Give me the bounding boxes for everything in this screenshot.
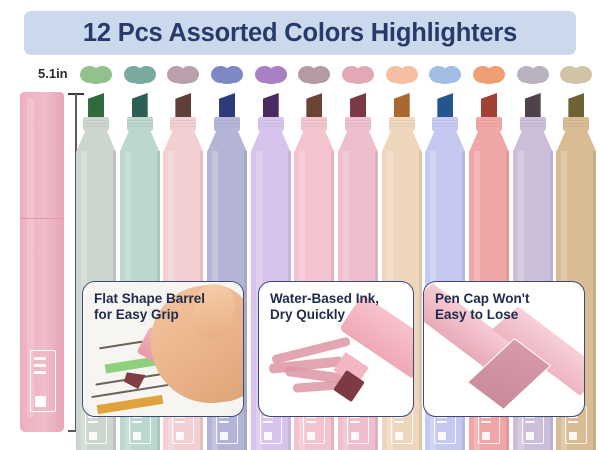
feature-card-pen-cap-secure: Pen Cap Won't Easy to Lose <box>423 281 585 417</box>
pen-collar-8 <box>389 117 415 131</box>
side-pen-brand-label <box>30 350 56 412</box>
card2-title: Water-Based Ink, Dry Quickly <box>270 291 405 322</box>
pen-collar-3 <box>170 117 196 131</box>
color-swatch-4 <box>211 66 243 85</box>
pen-collar-12 <box>563 117 589 131</box>
title-banner: 12 Pcs Assorted Colors Highlighters <box>24 11 576 55</box>
color-swatch-7 <box>342 66 374 85</box>
pen-collar-10 <box>476 117 502 131</box>
pen-shoulder-8 <box>382 130 422 152</box>
pen-collar-5 <box>258 117 284 131</box>
pen-tip-1 <box>85 93 107 119</box>
pen-tip-12 <box>565 93 587 119</box>
side-pen-cap-seam <box>20 218 64 219</box>
color-swatch-1 <box>80 66 112 85</box>
pen-collar-11 <box>520 117 546 131</box>
pen-tip-3 <box>172 93 194 119</box>
pen-shoulder-9 <box>425 130 465 152</box>
pen-collar-9 <box>432 117 458 131</box>
pen-shoulder-6 <box>294 130 334 152</box>
pen-collar-1 <box>83 117 109 131</box>
pen-tip-10 <box>478 93 500 119</box>
pen-shoulder-2 <box>120 130 160 152</box>
card3-title: Pen Cap Won't Easy to Lose <box>435 291 576 322</box>
pen-tip-8 <box>391 93 413 119</box>
color-swatch-10 <box>473 66 505 85</box>
pen-shoulder-10 <box>469 130 509 152</box>
pen-tip-4 <box>216 93 238 119</box>
pen-shoulder-1 <box>76 130 116 152</box>
feature-card-water-based-ink: Water-Based Ink, Dry Quickly <box>258 281 414 417</box>
color-swatch-12 <box>560 66 592 85</box>
card1-title: Flat Shape Barrel for Easy Grip <box>94 291 235 322</box>
pen-shoulder-12 <box>556 130 596 152</box>
pen-tip-5 <box>260 93 282 119</box>
pen-shoulder-11 <box>513 130 553 152</box>
pen-shoulder-4 <box>207 130 247 152</box>
color-swatch-11 <box>517 66 549 85</box>
pen-tip-11 <box>522 93 544 119</box>
pen-collar-2 <box>127 117 153 131</box>
pen-shoulder-3 <box>163 130 203 152</box>
color-swatch-2 <box>124 66 156 85</box>
measurement-value: 5.1in <box>38 66 68 81</box>
pen-collar-7 <box>345 117 371 131</box>
color-swatch-3 <box>167 66 199 85</box>
feature-card-flat-shape-barrel: Flat Shape Barrel for Easy Grip <box>82 281 244 417</box>
pen-collar-6 <box>301 117 327 131</box>
color-swatch-5 <box>255 66 287 85</box>
pen-tip-2 <box>129 93 151 119</box>
color-swatch-8 <box>386 66 418 85</box>
color-swatch-9 <box>429 66 461 85</box>
pen-shoulder-7 <box>338 130 378 152</box>
side-view-pen <box>20 92 64 432</box>
page-title: 12 Pcs Assorted Colors Highlighters <box>83 19 517 48</box>
product-image-canvas: 12 Pcs Assorted Colors Highlighters 5.1i… <box>0 0 600 450</box>
pen-tip-6 <box>303 93 325 119</box>
measurement-label: 5.1in <box>38 66 68 81</box>
pen-collar-4 <box>214 117 240 131</box>
color-swatch-6 <box>298 66 330 85</box>
pen-tip-9 <box>434 93 456 119</box>
pen-shoulder-5 <box>251 130 291 152</box>
pen-tip-7 <box>347 93 369 119</box>
